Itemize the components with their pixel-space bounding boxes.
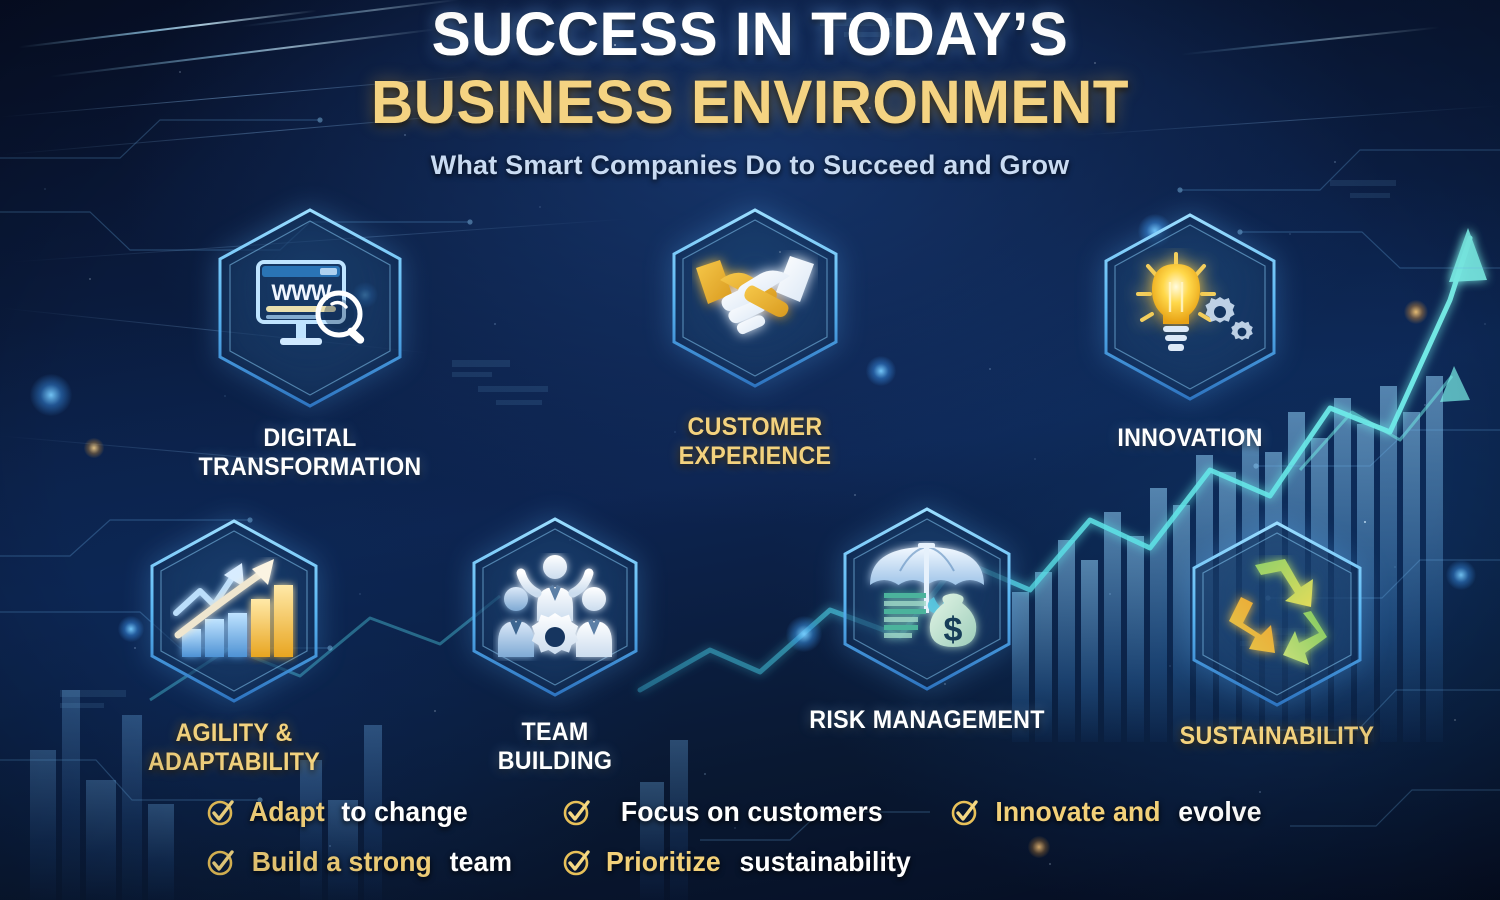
checklist-item-adapt-to-change[interactable]: Adapt to change — [206, 796, 471, 828]
infographic-canvas: SUCCESS IN TODAY’S BUSINESS ENVIRONMENT … — [0, 0, 1500, 900]
checklist: Adapt to change Focus on customers Innov… — [0, 0, 1500, 900]
checklist-item-focus-on-customers[interactable]: Focus on customers — [562, 796, 890, 828]
check-circle-icon — [206, 847, 236, 877]
checklist-text-white: team — [449, 846, 511, 878]
checklist-text-white: sustainability — [739, 846, 910, 878]
check-circle-icon — [206, 797, 236, 827]
checklist-text-white: evolve — [1178, 796, 1261, 828]
checklist-text-gold: Build a strong — [252, 846, 432, 878]
checklist-item-innovate-and-evolve[interactable]: Innovate and evolve — [950, 796, 1264, 828]
check-circle-icon — [950, 797, 980, 827]
checklist-text-white: to change — [341, 796, 467, 828]
checklist-item-build-a-strong-team[interactable]: Build a strong team — [206, 846, 513, 878]
check-circle-icon — [562, 847, 592, 877]
checklist-text-white: Focus on customers — [621, 796, 883, 828]
check-circle-icon — [562, 797, 592, 827]
checklist-text-gold: Prioritize — [606, 846, 721, 878]
checklist-text-gold: Adapt — [249, 796, 325, 828]
checklist-text-gold: Innovate and — [995, 796, 1160, 828]
checklist-item-prioritize-sustainability[interactable]: Prioritize sustainability — [562, 846, 915, 878]
